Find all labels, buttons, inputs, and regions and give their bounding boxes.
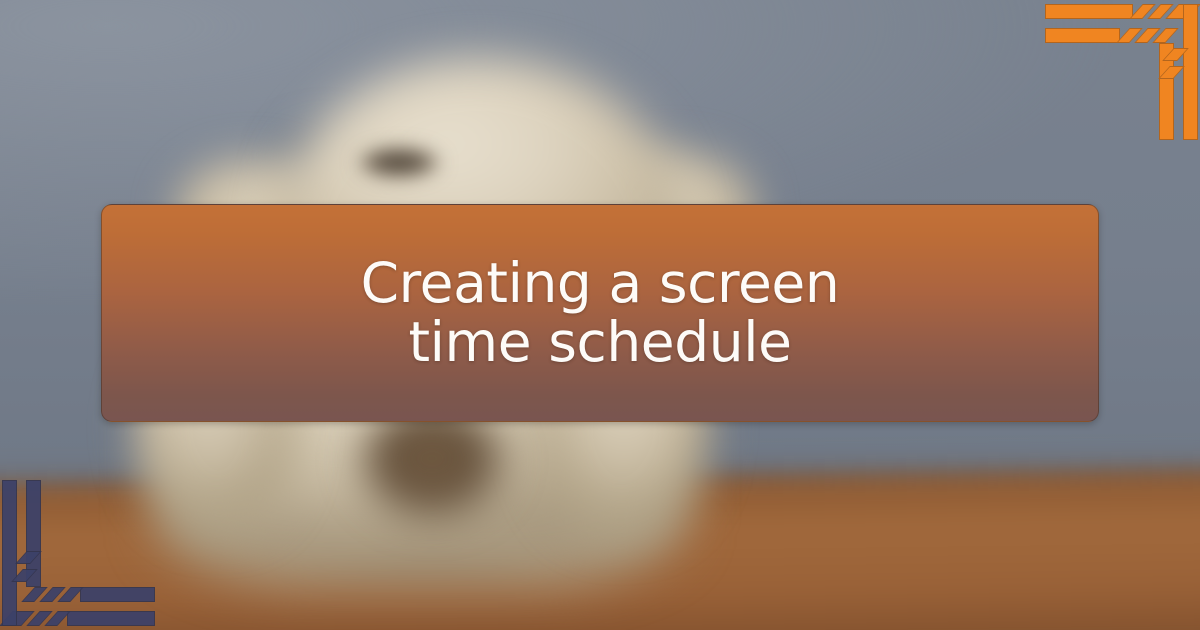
bracket-bar-vertical-outer bbox=[2, 480, 17, 626]
graphic-canvas: Creating a screen time schedule bbox=[0, 0, 1200, 630]
plush-toy-lap-shadow bbox=[348, 403, 516, 542]
title-banner: Creating a screen time schedule bbox=[101, 204, 1099, 422]
page-title: Creating a screen time schedule bbox=[102, 254, 1098, 373]
corner-bracket-top-right bbox=[1040, 0, 1200, 140]
bracket-bar-vertical-outer bbox=[1183, 4, 1198, 140]
corner-bracket-bottom-left bbox=[0, 470, 160, 630]
bracket-bar-horizontal-inner bbox=[1045, 28, 1120, 43]
bracket-bar-horizontal-outer bbox=[67, 611, 155, 626]
bracket-bar-horizontal-inner bbox=[80, 587, 155, 602]
plush-toy-eyes bbox=[354, 145, 444, 180]
bracket-bar-horizontal-outer bbox=[1045, 4, 1133, 19]
